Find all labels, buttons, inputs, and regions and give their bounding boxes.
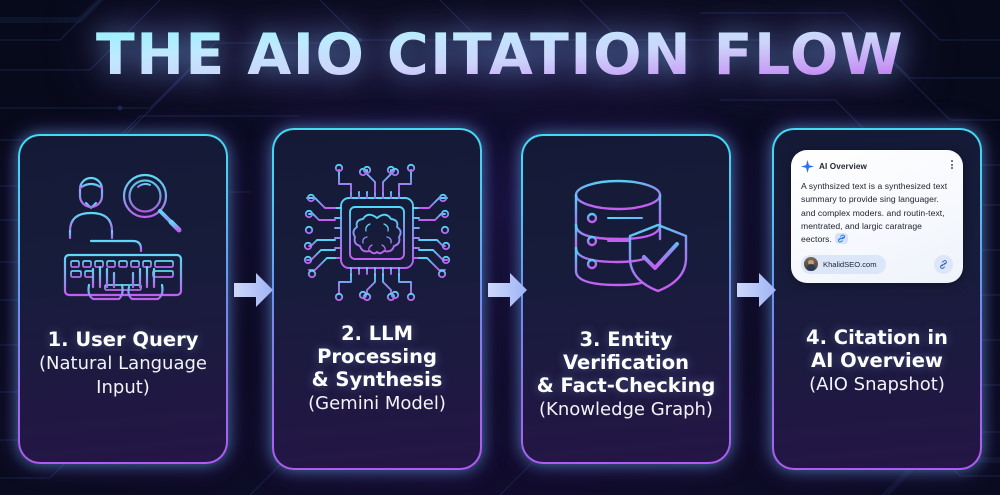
step-3-title-line-2: & Fact-Checking (533, 374, 719, 397)
kebab-menu-icon[interactable] (951, 160, 953, 169)
step-card-4[interactable]: AI Overview A synthsized text is a synth… (772, 128, 982, 470)
ai-overview-panel[interactable]: AI Overview A synthsized text is a synth… (791, 146, 963, 322)
avatar (804, 257, 818, 271)
step-1-subtitle-line-2: Input) (30, 377, 216, 399)
flow-row: 1. User Query (Natural Language Input) (0, 134, 1000, 484)
step-3-label: 3. Entity Verification & Fact-Checking (… (533, 328, 719, 421)
step-card-2[interactable]: 2. LLM Processing & Synthesis (Gemini Mo… (272, 128, 482, 470)
step-2-subtitle-line-1: (Gemini Model) (284, 393, 470, 415)
step-4-title-line-2: AI Overview (784, 349, 970, 372)
gemini-sparkle-icon (801, 160, 814, 173)
arrow-step2-to-step3 (486, 270, 530, 310)
step-1-label: 1. User Query (Natural Language Input) (30, 328, 216, 398)
database-shield-check-icon (556, 152, 696, 324)
user-search-keyboard-icon (53, 152, 193, 324)
ai-overview-header: AI Overview (801, 159, 953, 173)
ai-overview-body-text: A synthsized text is a synthesized text … (801, 181, 947, 244)
page-title: THE AIO CITATION FLOW (96, 22, 904, 88)
step-card-3[interactable]: 3. Entity Verification & Fact-Checking (… (521, 134, 731, 464)
step-2-title-line-2: & Synthesis (284, 368, 470, 391)
step-4-label: 4. Citation in AI Overview (AIO Snapshot… (784, 326, 970, 396)
step-4-subtitle-line-1: (AIO Snapshot) (784, 374, 970, 396)
step-1-subtitle-line-1: (Natural Language (30, 353, 216, 375)
source-citation-chip[interactable]: KhalidSEO.com (801, 255, 886, 274)
step-4-title-line-1: 4. Citation in (784, 326, 970, 349)
step-2-title-line-1: 2. LLM Processing (284, 322, 470, 368)
step-3-title-line-1: 3. Entity Verification (533, 328, 719, 374)
arrow-step1-to-step2 (232, 270, 276, 310)
step-1-title: 1. User Query (30, 328, 216, 351)
step-2-label: 2. LLM Processing & Synthesis (Gemini Mo… (284, 322, 470, 415)
step-3-subtitle-line-1: (Knowledge Graph) (533, 399, 719, 421)
inline-citation-icon[interactable] (835, 233, 848, 244)
ai-overview-body-wrap: A synthsized text is a synthesized text … (801, 180, 953, 247)
step-card-1[interactable]: 1. User Query (Natural Language Input) (18, 134, 228, 464)
source-name: KhalidSEO.com (823, 260, 877, 269)
link-chain-icon[interactable] (934, 255, 953, 274)
cpu-brain-chip-icon (297, 146, 457, 318)
ai-overview-title: AI Overview (819, 162, 867, 171)
arrow-step3-to-step4 (735, 270, 779, 310)
title-container: THE AIO CITATION FLOW (0, 22, 1000, 88)
ai-overview-footer: KhalidSEO.com (801, 255, 953, 274)
